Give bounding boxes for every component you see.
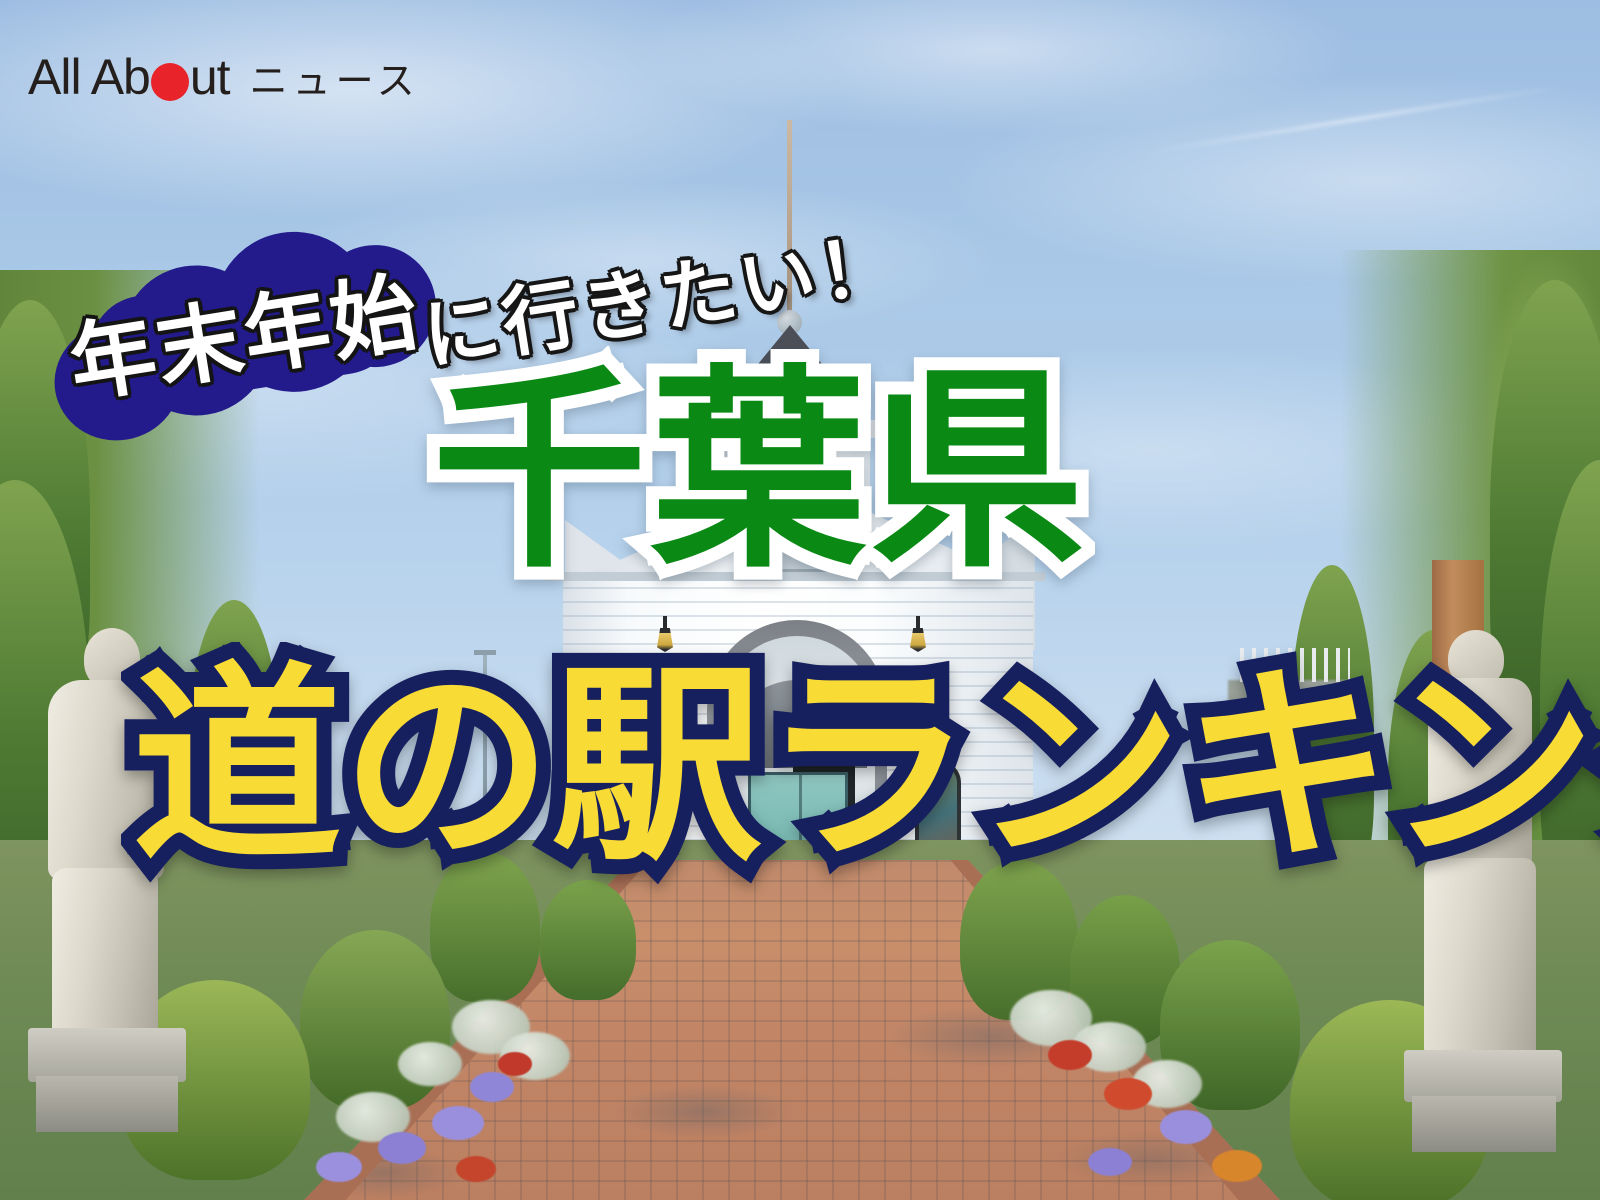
statue-plinth: [28, 1028, 186, 1082]
silver-foliage: [398, 1042, 462, 1086]
red-circle-icon: [151, 63, 189, 101]
flower-cluster: [498, 1052, 532, 1076]
background-photo: [0, 0, 1600, 1200]
title-ranking: 道の駅ランキング: [132, 660, 1600, 874]
logo-suffix: ニュース: [250, 50, 420, 105]
flower-cluster: [378, 1132, 426, 1164]
flower-cluster: [432, 1106, 484, 1140]
thumbnail-canvas: All Ab ut ニュース 年末年始 に行きたい！ 千葉県 道の駅ランキング: [0, 0, 1600, 1200]
hedge-shrub: [540, 880, 636, 1000]
statue-plinth: [1404, 1050, 1562, 1102]
flower-cluster: [1088, 1148, 1132, 1176]
flower-cluster: [470, 1072, 514, 1102]
flower-cluster: [1048, 1040, 1092, 1070]
flower-cluster: [1212, 1150, 1262, 1182]
flower-cluster: [456, 1156, 496, 1182]
logo-text-after: ut: [190, 48, 230, 106]
title-prefecture: 千葉県: [432, 362, 1089, 581]
logo-text-before: All Ab: [28, 48, 150, 106]
logo-wordmark: All Ab ut: [28, 48, 230, 106]
statue-legs: [52, 868, 158, 1038]
statue-base: [36, 1076, 178, 1132]
flower-cluster: [1104, 1078, 1152, 1110]
site-logo[interactable]: All Ab ut ニュース: [28, 48, 420, 106]
flower-cluster: [316, 1152, 362, 1182]
statue-base: [1412, 1096, 1556, 1152]
flower-cluster: [1160, 1110, 1212, 1144]
